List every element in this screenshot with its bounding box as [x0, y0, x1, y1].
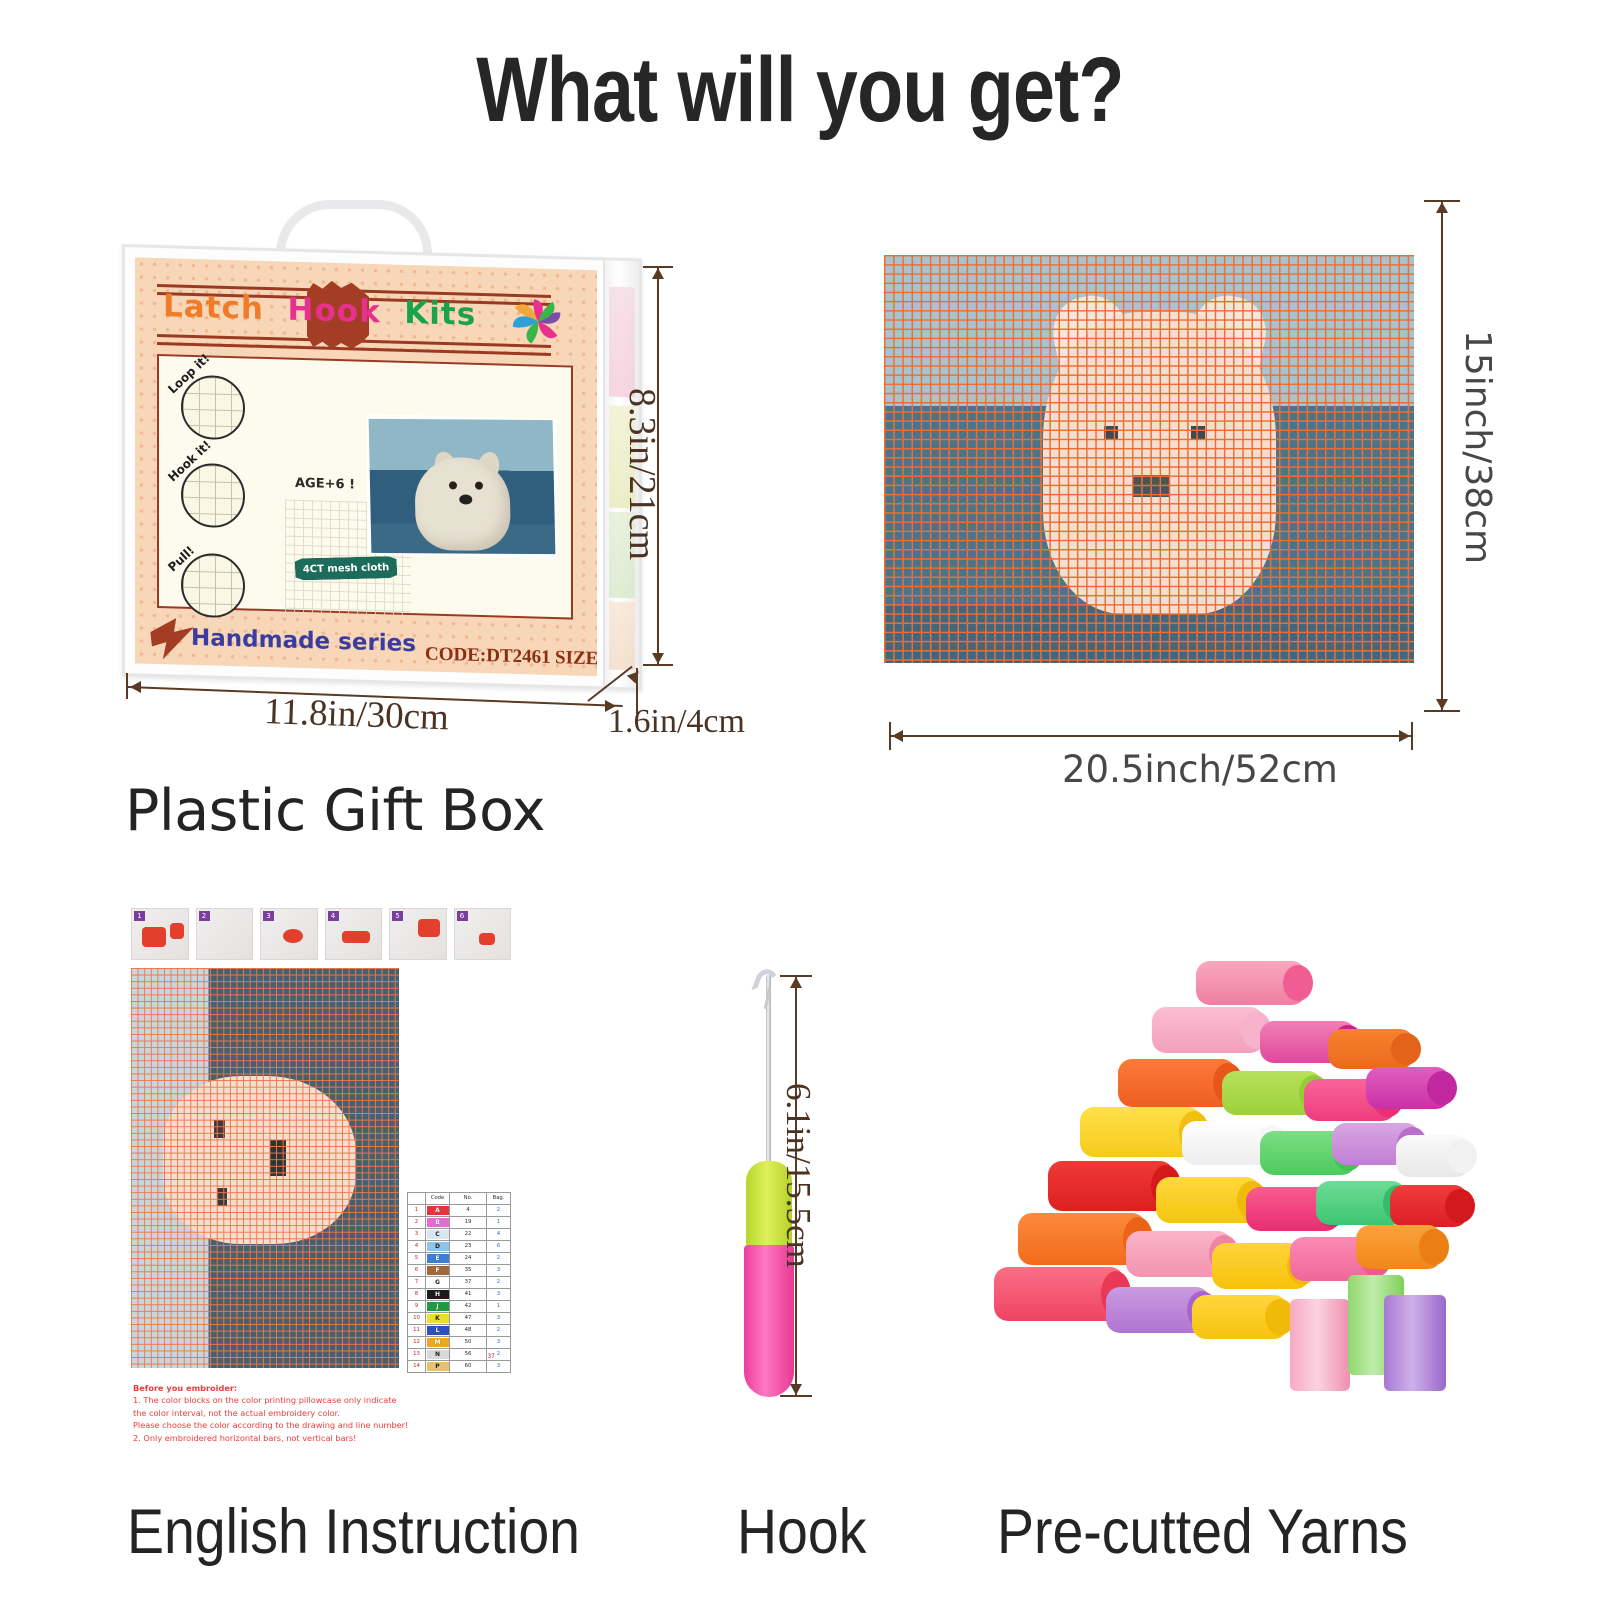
yarn-photo	[418, 919, 440, 937]
legend-number: 4	[450, 1205, 487, 1217]
legend-bag: 3	[487, 1265, 511, 1277]
legend-number: 19	[450, 1217, 487, 1229]
chart-mesh-grid	[131, 968, 399, 1368]
legend-bag: 2	[487, 1205, 511, 1217]
legend-bag: 2	[487, 1277, 511, 1289]
box-width-label: 11.8in/30cm	[263, 690, 449, 739]
color-swatch: K	[427, 1314, 449, 1323]
legend-index: 11	[408, 1325, 426, 1337]
spine-color-band	[609, 601, 635, 670]
series-label: Handmade series	[191, 625, 416, 657]
package-title: Latch Hook Kits	[163, 288, 476, 333]
yarn-photo	[170, 923, 184, 939]
age-recommendation: AGE+6 !	[295, 476, 355, 493]
package-instruction-panel: Loop it! Hook it! Pull! AGE+6 ! 4CT mesh…	[157, 354, 573, 620]
pinwheel-icon	[507, 290, 569, 354]
gift-box-illustration: Latch Hook Kits	[118, 196, 658, 676]
legend-number: 60	[450, 1361, 487, 1373]
legend-total: 37	[407, 1353, 511, 1360]
step-badge: 3	[263, 911, 274, 921]
legend-index: 4	[408, 1241, 426, 1253]
legend-color-code: J	[426, 1301, 450, 1313]
legend-number: 41	[450, 1289, 487, 1301]
step-thumbnail: 4	[325, 908, 383, 960]
step-badge: 1	[134, 911, 145, 921]
step-hook-diagram	[181, 463, 245, 529]
legend-row: 5E242	[408, 1253, 511, 1265]
legend-color-code: L	[426, 1325, 450, 1337]
product-photo-inner	[369, 419, 556, 554]
product-size: SIZE:52X38CM	[555, 647, 597, 673]
legend-number: 47	[450, 1313, 487, 1325]
legend-index: 1	[408, 1205, 426, 1217]
mesh-ribbon-label: 4CT mesh cloth	[294, 556, 397, 580]
yarn-photo	[142, 927, 166, 947]
legend-bag: 1	[487, 1301, 511, 1313]
yarn-bundle	[1356, 1225, 1442, 1269]
legend-row: 3C224	[408, 1229, 511, 1241]
legend-number: 42	[450, 1301, 487, 1313]
legend-row: 12M503	[408, 1337, 511, 1349]
step-badge: 6	[457, 911, 468, 921]
note-line: 1. The color blocks on the color printin…	[133, 1394, 423, 1406]
step-loop-diagram	[181, 375, 245, 441]
note-heading: Before you embroider:	[133, 1382, 423, 1394]
canvas-width-label: 20.5inch/52cm	[1062, 748, 1338, 791]
legend-index: 7	[408, 1277, 426, 1289]
legend-number: 48	[450, 1325, 487, 1337]
legend-row: 11L482	[408, 1325, 511, 1337]
legend-number: 35	[450, 1265, 487, 1277]
package-title-word2: Hook	[288, 292, 381, 331]
legend-bag: 1	[487, 1217, 511, 1229]
legend-index: 8	[408, 1289, 426, 1301]
step-thumbnail: 1	[131, 908, 189, 960]
color-swatch: J	[427, 1302, 449, 1311]
legend-index: 14	[408, 1361, 426, 1373]
legend-color-code: E	[426, 1253, 450, 1265]
legend-row: 14P603	[408, 1361, 511, 1373]
yarn-bundle	[1192, 1295, 1288, 1339]
note-line: 2. Only embroidered horizontal bars, not…	[133, 1432, 423, 1444]
pre-cutted-yarns-photo	[960, 955, 1490, 1395]
note-line: the color interval, not the actual embro…	[133, 1407, 423, 1419]
step-badge: 4	[328, 911, 339, 921]
pattern-chart	[131, 968, 399, 1368]
legend-bag: 6	[487, 1241, 511, 1253]
legend-bag: 3	[487, 1313, 511, 1325]
legend-index: 9	[408, 1301, 426, 1313]
legend-number: 23	[450, 1241, 487, 1253]
latch-hook-canvas	[884, 255, 1414, 663]
legend-color-code: A	[426, 1205, 450, 1217]
step-pull-diagram	[181, 553, 245, 619]
legend-color-code: G	[426, 1277, 450, 1289]
legend-index: 2	[408, 1217, 426, 1229]
dog-eye-left	[449, 481, 457, 489]
note-line: Please choose the color according to the…	[133, 1419, 423, 1431]
caption-hook: Hook	[737, 1496, 866, 1568]
legend-color-code: H	[426, 1289, 450, 1301]
yarn-photo	[342, 931, 370, 943]
yarn-bundle	[1118, 1059, 1236, 1107]
legend-bag: 3	[487, 1289, 511, 1301]
legend-number: 24	[450, 1253, 487, 1265]
legend-header-bag: Bag.	[487, 1193, 511, 1205]
caption-plastic-gift-box: Plastic Gift Box	[125, 778, 545, 844]
legend-index: 3	[408, 1229, 426, 1241]
color-swatch: B	[427, 1218, 449, 1227]
color-swatch: F	[427, 1266, 449, 1275]
color-swatch: L	[427, 1326, 449, 1335]
hook-length-label: 6.1in/15.5cm	[778, 1083, 818, 1268]
legend-number: 50	[450, 1337, 487, 1349]
yarn-bundle	[1366, 1067, 1450, 1109]
legend-row: 10K473	[408, 1313, 511, 1325]
legend-bag: 3	[487, 1337, 511, 1349]
step-badge: 2	[199, 911, 210, 921]
legend-number: 22	[450, 1229, 487, 1241]
spine-color-band	[609, 286, 635, 397]
legend-index: 12	[408, 1337, 426, 1349]
english-instruction-sheet: 1 2 3 4 5 6	[125, 900, 515, 1475]
box-depth-label: 1.6in/4cm	[608, 703, 745, 741]
legend-row: 7G372	[408, 1277, 511, 1289]
color-swatch: H	[427, 1290, 449, 1299]
legend-bag: 2	[487, 1253, 511, 1265]
caption-english-instruction: English Instruction	[127, 1496, 580, 1568]
legend-color-code: F	[426, 1265, 450, 1277]
color-swatch: P	[427, 1362, 449, 1371]
box-body: Latch Hook Kits	[122, 244, 642, 691]
legend-color-code: C	[426, 1229, 450, 1241]
legend-bag: 3	[487, 1361, 511, 1373]
legend-row: 1A42	[408, 1205, 511, 1217]
yarn-tube	[1290, 1299, 1350, 1391]
box-handle-icon	[276, 200, 432, 254]
legend-row: 8H413	[408, 1289, 511, 1301]
color-swatch: A	[427, 1206, 449, 1215]
step-thumbnail-strip: 1 2 3 4 5 6	[131, 908, 511, 960]
infographic-page: What will you get? Latch Hook Kits	[0, 0, 1600, 1600]
legend-header-index	[408, 1193, 426, 1205]
step-thumbnail: 2	[196, 908, 254, 960]
page-title: What will you get?	[144, 38, 1456, 143]
color-swatch: E	[427, 1254, 449, 1263]
legend-index: 5	[408, 1253, 426, 1265]
step-thumbnail: 6	[454, 908, 512, 960]
yarn-bundle	[994, 1267, 1124, 1321]
legend-row: 2B191	[408, 1217, 511, 1229]
swoosh-ornament	[149, 617, 197, 660]
caption-pre-cutted-yarns: Pre-cutted Yarns	[997, 1496, 1408, 1568]
legend-row: 9J421	[408, 1301, 511, 1313]
yarn-bundle	[1196, 961, 1306, 1005]
legend-color-code: K	[426, 1313, 450, 1325]
step-thumbnail: 3	[260, 908, 318, 960]
box-front-artwork: Latch Hook Kits	[135, 257, 597, 676]
color-legend-table: Code No. Bag. 1A422B1913C2244D2365E2426F…	[407, 1192, 511, 1373]
step-badge: 5	[392, 911, 403, 921]
legend-header-code: Code	[426, 1193, 450, 1205]
package-title-word1: Latch	[163, 288, 264, 327]
canvas-height-label: 15inch/38cm	[1457, 330, 1498, 564]
color-swatch: C	[427, 1230, 449, 1239]
product-code: CODE:DT2461	[425, 643, 551, 669]
hook-handle-lower	[744, 1245, 794, 1397]
yarn-tube	[1384, 1295, 1446, 1391]
box-height-label: 8.3in/21cm	[620, 388, 664, 560]
step-thumbnail: 5	[389, 908, 447, 960]
color-swatch: G	[427, 1278, 449, 1287]
package-title-word3: Kits	[404, 295, 476, 333]
color-swatch: D	[427, 1242, 449, 1251]
product-photo	[367, 414, 557, 559]
yarn-bundle	[1156, 1177, 1260, 1223]
legend-number: 37	[450, 1277, 487, 1289]
canvas-mesh-grid	[884, 255, 1414, 663]
legend-index: 10	[408, 1313, 426, 1325]
yarn-photo	[283, 929, 303, 943]
legend-color-code: P	[426, 1361, 450, 1373]
before-you-embroider-note: Before you embroider: 1. The color block…	[133, 1382, 423, 1444]
legend-bag: 2	[487, 1325, 511, 1337]
legend-index: 6	[408, 1265, 426, 1277]
legend-row: 6F353	[408, 1265, 511, 1277]
legend-header-row: Code No. Bag.	[408, 1193, 511, 1205]
yarn-bundle	[1390, 1185, 1468, 1227]
yarn-bundle	[1328, 1029, 1414, 1069]
color-swatch: M	[427, 1338, 449, 1347]
legend-row: 4D236	[408, 1241, 511, 1253]
yarn-bundle	[1396, 1135, 1470, 1177]
yarn-bundle	[1152, 1007, 1264, 1053]
yarn-photo	[479, 933, 495, 945]
legend-color-code: M	[426, 1337, 450, 1349]
legend-bag: 4	[487, 1229, 511, 1241]
dog-eye-right	[475, 481, 483, 489]
legend-color-code: D	[426, 1241, 450, 1253]
legend-header-no: No.	[450, 1193, 487, 1205]
legend-color-code: B	[426, 1217, 450, 1229]
